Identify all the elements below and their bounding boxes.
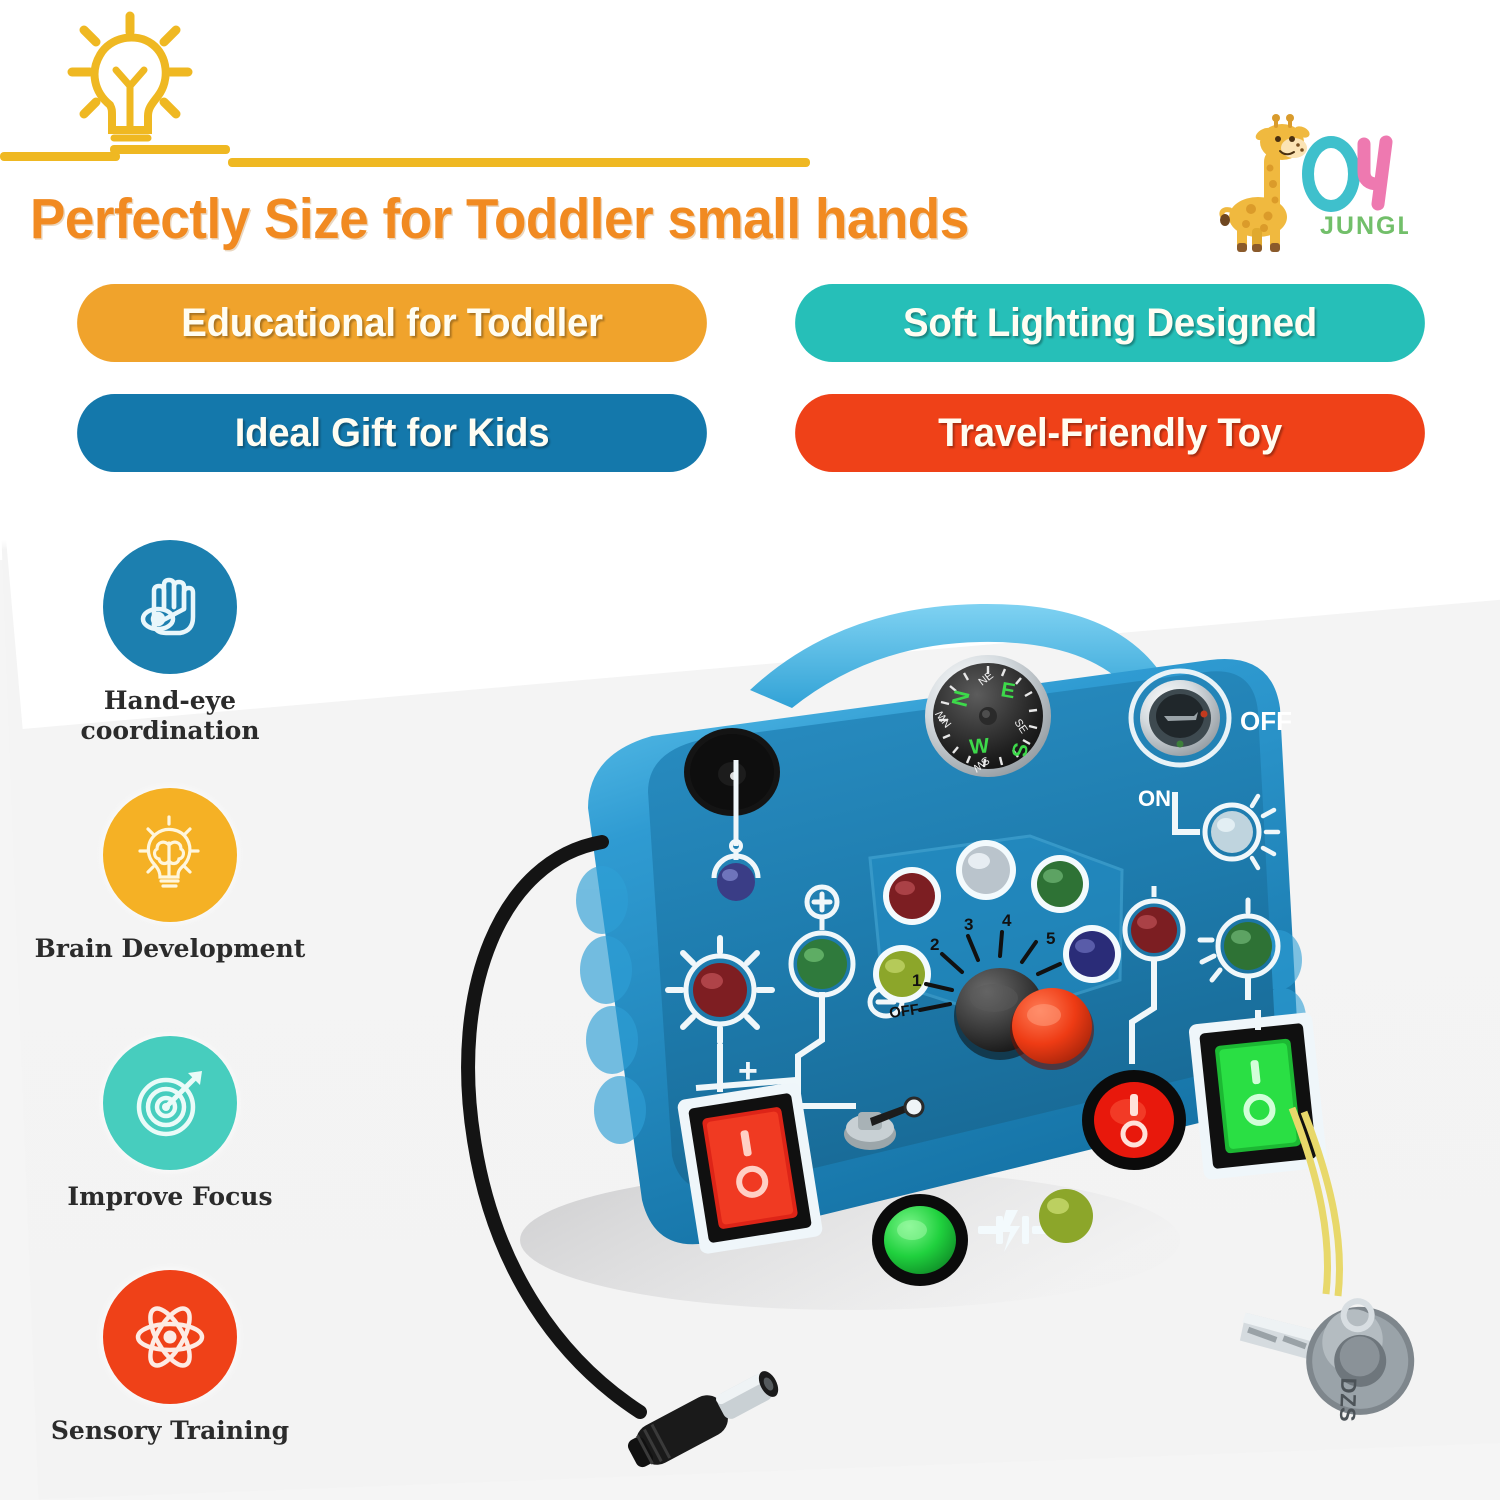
key-switch [1131, 671, 1229, 765]
atom-icon [103, 1270, 237, 1404]
product-image: N E S W NE SE SW NW OFF ON [420, 540, 1500, 1500]
red-rocker-switch [677, 1081, 824, 1254]
round-red-rocker [1082, 1070, 1186, 1170]
feature-brain-development: Brain Development [0, 788, 340, 964]
dial-3-label: 3 [964, 915, 973, 934]
led-white [956, 840, 1016, 900]
compass-w: W [968, 734, 990, 759]
dial-4-label: 4 [1002, 911, 1012, 930]
page-title: Perfectly Size for Toddler small hands [30, 186, 1127, 252]
header-rule-left [0, 152, 120, 161]
compass-dial: N E S W NE SE SW NW [925, 655, 1051, 777]
key-off-label: OFF [1240, 706, 1292, 736]
feature-label: Brain Development [0, 934, 340, 964]
led-dark-red [883, 867, 941, 925]
pill-educational[interactable]: Educational for Toddler [77, 284, 707, 362]
feature-label: Improve Focus [0, 1182, 340, 1212]
feature-hand-eye-coordination: Hand-eyecoordination [0, 540, 340, 745]
header-rule-right [228, 158, 810, 167]
dial-1-label: 1 [912, 971, 921, 990]
header: Perfectly Size for Toddler small hands [0, 0, 1500, 270]
brand-logo: JUNGLE [1218, 112, 1408, 262]
benefits-sidebar: Hand-eyecoordination [0, 540, 340, 1500]
green-push-button [872, 1194, 968, 1286]
logo-letter-y [1364, 142, 1386, 204]
pill-soft-lighting[interactable]: Soft Lighting Designed [795, 284, 1425, 362]
lamp-red-sunburst [668, 938, 772, 1042]
hand-eye-icon [103, 540, 237, 674]
red-push-button [1010, 988, 1094, 1070]
dial-2-label: 2 [930, 935, 939, 954]
pill-ideal-gift[interactable]: Ideal Gift for Kids [77, 394, 707, 472]
feature-label: Hand-eyecoordination [0, 686, 340, 745]
feature-label: Sensory Training [0, 1416, 340, 1446]
dial-5-label: 5 [1046, 929, 1055, 948]
led-olive-small [1039, 1189, 1093, 1243]
key-brand-label: DZS [1335, 1377, 1362, 1422]
dc-power-plug [623, 1362, 786, 1475]
brain-bulb-icon [103, 788, 237, 922]
led-blue [1063, 925, 1121, 983]
giraffe-icon [1220, 114, 1311, 252]
led-yellow-green [873, 945, 931, 1003]
logo-letter-o [1308, 142, 1354, 206]
target-dart-icon [103, 1036, 237, 1170]
speaker-buzzer [684, 728, 780, 816]
feature-improve-focus: Improve Focus [0, 1036, 340, 1212]
round-rocker-on-mark [1130, 1094, 1138, 1116]
header-rule-mid [110, 145, 230, 154]
led-green [1031, 855, 1089, 913]
key-on-label: ON [1138, 786, 1171, 811]
pill-travel-friendly[interactable]: Travel-Friendly Toy [795, 394, 1425, 472]
feature-pills: Educational for Toddler Ideal Gift for K… [0, 282, 1500, 472]
lightbulb-icon [48, 10, 218, 160]
logo-subtitle: JUNGLE [1320, 212, 1408, 240]
feature-sensory-training: Sensory Training [0, 1270, 340, 1446]
